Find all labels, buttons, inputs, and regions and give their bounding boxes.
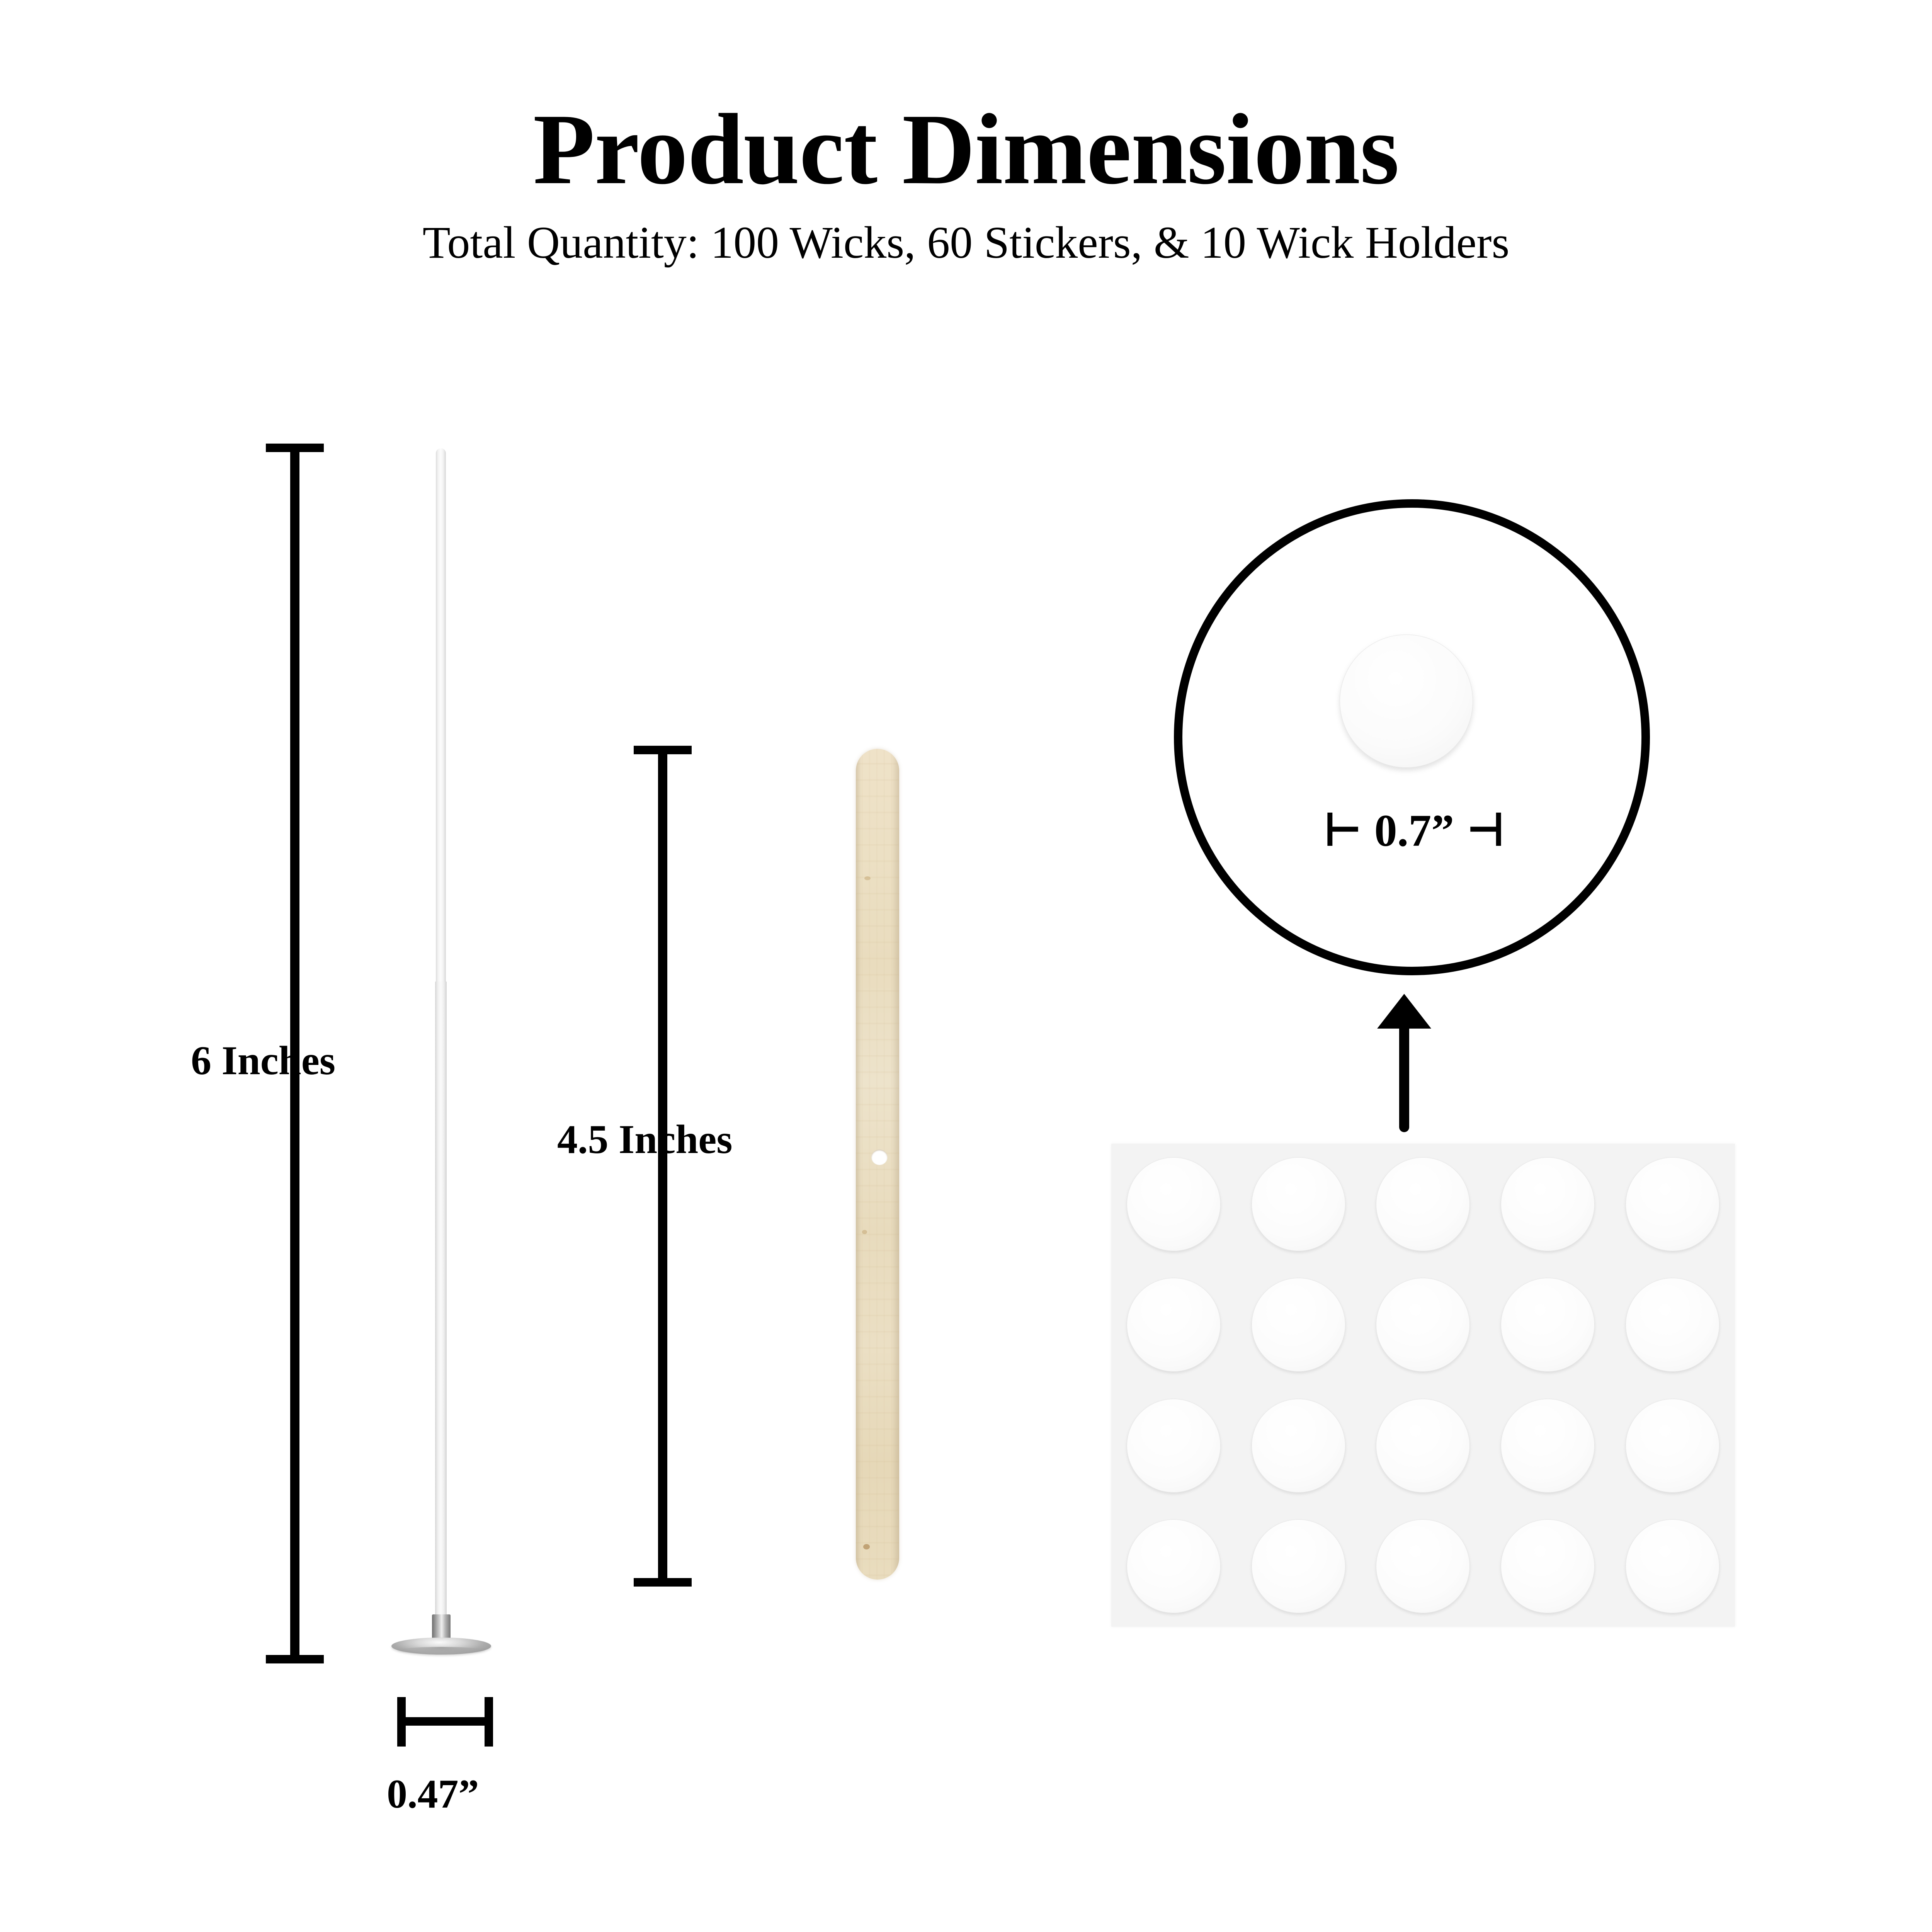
sticker-grid [1111, 1144, 1735, 1627]
sticker-dot [1376, 1519, 1470, 1613]
sticker-cell [1610, 1385, 1735, 1506]
sticker-dot [1127, 1278, 1221, 1372]
sticker-dot [1501, 1399, 1595, 1493]
sticker-dot [1501, 1519, 1595, 1613]
sticker-dot [1626, 1399, 1719, 1493]
sticker-dot [1376, 1278, 1470, 1372]
sticker-dot [1626, 1519, 1719, 1613]
sticker-cell [1610, 1144, 1735, 1265]
sticker-cell [1485, 1265, 1610, 1386]
sticker-dot [1501, 1157, 1595, 1251]
wick-width-label: 0.47” [387, 1774, 479, 1815]
arrow-up-icon [1377, 994, 1431, 1029]
sticker-cell [1111, 1506, 1236, 1627]
sticker-cell [1111, 1144, 1236, 1265]
sticker-cell [1361, 1506, 1486, 1627]
wick-dimension-bottom-cap [266, 1655, 324, 1663]
wood-knot-spot [864, 876, 871, 880]
sticker-dot [1252, 1399, 1345, 1493]
sticker-dot [1127, 1157, 1221, 1251]
sticker-cell [1236, 1506, 1361, 1627]
infographic-canvas: Product Dimensions Total Quantity: 100 W… [0, 0, 1932, 1932]
holder-length-label: 4.5 Inches [557, 1119, 733, 1160]
sticker-dot [1252, 1519, 1345, 1613]
page-subtitle: Total Quantity: 100 Wicks, 60 Stickers, … [0, 220, 1932, 265]
holder-dimension-line [658, 746, 667, 1587]
magnified-sticker [1340, 634, 1473, 768]
sticker-cell [1111, 1265, 1236, 1386]
sticker-cell [1236, 1385, 1361, 1506]
sticker-dot [1626, 1157, 1719, 1251]
wick-holder-center-hole [871, 1150, 888, 1165]
arrow-shaft [1399, 1024, 1409, 1132]
sticker-dot [1127, 1399, 1221, 1493]
sticker-dot [1376, 1157, 1470, 1251]
sticker-dot [1252, 1157, 1345, 1251]
wood-knot-spot [863, 1544, 870, 1549]
wick-stem [436, 448, 446, 1629]
header-block: Product Dimensions Total Quantity: 100 W… [0, 99, 1932, 265]
sticker-dot [1626, 1278, 1719, 1372]
wick-base-shadow [397, 1647, 485, 1655]
wick-length-label: 6 Inches [191, 1040, 335, 1081]
sticker-cell [1361, 1265, 1486, 1386]
sticker-diameter-label: ⊢ 0.7” ⊣ [1314, 802, 1515, 860]
sticker-dot [1501, 1278, 1595, 1372]
sticker-cell [1485, 1385, 1610, 1506]
sticker-cell [1610, 1265, 1735, 1386]
sticker-cell [1236, 1144, 1361, 1265]
sticker-cell [1485, 1144, 1610, 1265]
sticker-cell [1361, 1385, 1486, 1506]
sticker-cell [1485, 1506, 1610, 1627]
wick-width-line [397, 1717, 493, 1726]
sticker-cell [1236, 1265, 1361, 1386]
holder-dimension-bottom-cap [634, 1578, 692, 1587]
sticker-sheet [1111, 1144, 1735, 1627]
page-title: Product Dimensions [0, 99, 1932, 200]
wick-width-right-cap [485, 1697, 493, 1747]
wood-knot-spot [862, 1230, 867, 1234]
sticker-cell [1361, 1144, 1486, 1265]
sticker-dot [1252, 1278, 1345, 1372]
sticker-diameter-dimension: ⊢ 0.7” ⊣ [1314, 802, 1515, 860]
sticker-dot [1127, 1519, 1221, 1613]
sticker-dot [1376, 1399, 1470, 1493]
sticker-cell [1610, 1506, 1735, 1627]
sticker-cell [1111, 1385, 1236, 1506]
